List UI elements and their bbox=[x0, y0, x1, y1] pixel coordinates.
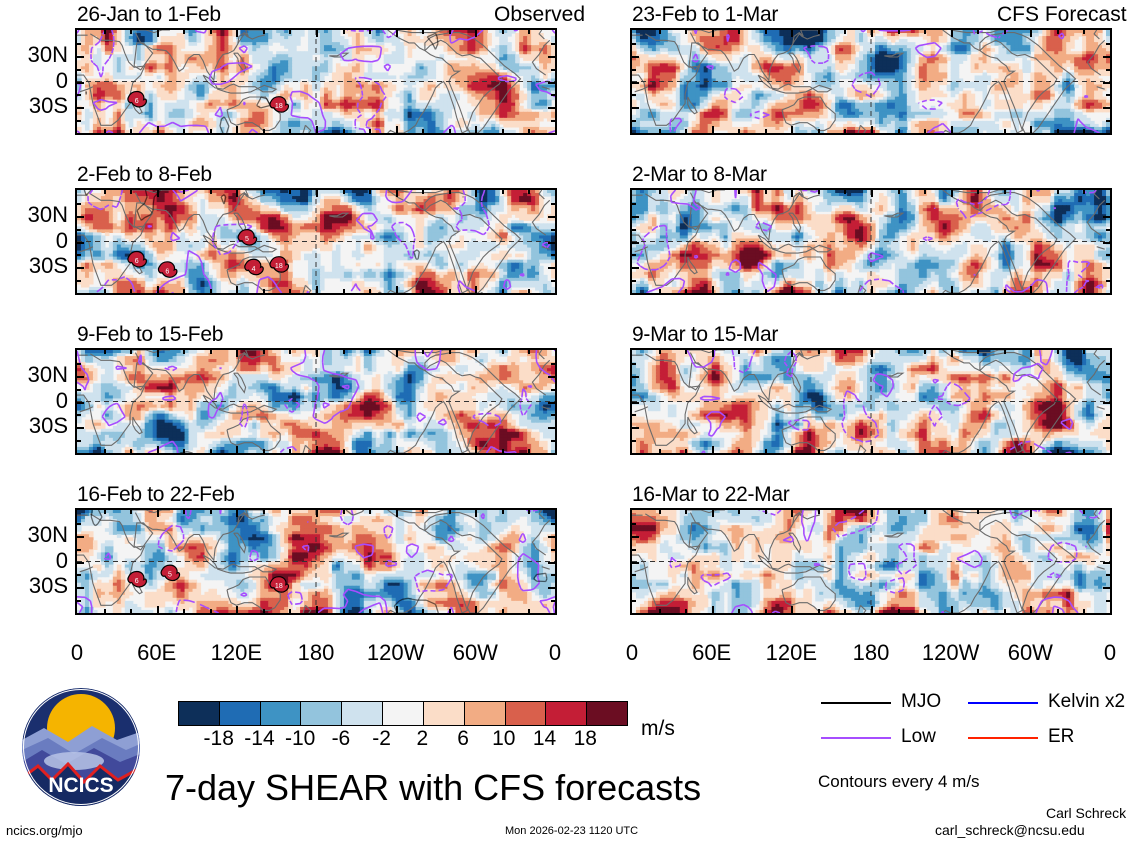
x-tick bbox=[659, 129, 661, 133]
x-tick bbox=[1083, 190, 1085, 194]
footer-email[interactable]: carl_schreck@ncsu.edu bbox=[935, 822, 1085, 838]
x-tick bbox=[528, 350, 530, 354]
panel-title-6: 9-Mar to 15-Mar bbox=[632, 323, 778, 347]
x-tick bbox=[844, 30, 846, 34]
x-tick bbox=[104, 129, 106, 133]
y-tick bbox=[77, 363, 81, 365]
y-tick bbox=[548, 107, 555, 109]
x-tick bbox=[289, 129, 291, 133]
footer-author: Carl Schreck bbox=[1046, 805, 1126, 821]
map-panel-observed-2 bbox=[75, 348, 557, 455]
x-tick bbox=[343, 350, 345, 354]
x-tick bbox=[844, 289, 846, 293]
x-tick bbox=[951, 350, 953, 357]
x-tick bbox=[369, 289, 371, 293]
x-tick bbox=[157, 510, 159, 517]
x-tick bbox=[1004, 129, 1006, 133]
y-axis-label-30N: 30N bbox=[0, 202, 68, 228]
map-panel-forecast-5 bbox=[630, 188, 1112, 295]
legend-swatch-low bbox=[821, 737, 891, 739]
y-tick bbox=[551, 600, 555, 602]
y-tick bbox=[548, 267, 555, 269]
y-tick bbox=[548, 216, 555, 218]
x-tick bbox=[475, 126, 477, 133]
x-tick bbox=[502, 129, 504, 133]
panel-title-1: 2-Feb to 8-Feb bbox=[77, 163, 212, 187]
y-tick bbox=[1106, 69, 1110, 71]
x-tick bbox=[712, 190, 714, 197]
x-tick bbox=[183, 510, 185, 514]
x-tick bbox=[316, 446, 318, 453]
x-tick bbox=[528, 609, 530, 613]
x-tick bbox=[898, 30, 900, 34]
x-tick bbox=[449, 609, 451, 613]
x-tick bbox=[157, 606, 159, 613]
x-tick bbox=[818, 350, 820, 354]
y-tick bbox=[77, 82, 84, 84]
x-tick bbox=[924, 510, 926, 514]
x-tick bbox=[685, 30, 687, 34]
y-tick bbox=[77, 440, 81, 442]
y-tick bbox=[1103, 562, 1110, 564]
x-axis-label-col0-1: 60E bbox=[117, 640, 197, 666]
x-tick bbox=[502, 609, 504, 613]
y-tick bbox=[77, 267, 84, 269]
y-tick bbox=[632, 402, 639, 404]
x-tick bbox=[871, 606, 873, 613]
y-tick bbox=[551, 574, 555, 576]
x-tick bbox=[977, 449, 979, 453]
x-tick bbox=[449, 30, 451, 34]
column-header-observed: Observed bbox=[494, 3, 585, 27]
x-tick bbox=[951, 286, 953, 293]
x-tick bbox=[183, 350, 185, 354]
x-tick bbox=[791, 190, 793, 197]
x-tick bbox=[528, 510, 530, 514]
x-tick bbox=[528, 289, 530, 293]
y-axis-label-0: 0 bbox=[0, 388, 68, 414]
y-tick bbox=[77, 549, 81, 551]
x-tick bbox=[1004, 350, 1006, 354]
x-tick bbox=[130, 289, 132, 293]
y-tick bbox=[632, 107, 639, 109]
legend-swatch-er bbox=[968, 737, 1038, 739]
x-tick bbox=[712, 30, 714, 37]
x-tick bbox=[422, 129, 424, 133]
x-tick bbox=[818, 129, 820, 133]
x-tick bbox=[685, 449, 687, 453]
x-tick bbox=[951, 606, 953, 613]
x-tick bbox=[712, 350, 714, 357]
y-tick bbox=[632, 574, 636, 576]
x-tick bbox=[316, 30, 318, 37]
x-tick bbox=[765, 609, 767, 613]
x-tick bbox=[210, 30, 212, 34]
y-tick bbox=[1106, 203, 1110, 205]
x-tick bbox=[475, 510, 477, 517]
legend-label-mjo: MJO bbox=[901, 691, 941, 713]
colorbar-tick-18: 18 bbox=[560, 727, 610, 751]
y-tick bbox=[1106, 363, 1110, 365]
x-tick bbox=[157, 446, 159, 453]
x-tick bbox=[396, 606, 398, 613]
x-tick bbox=[236, 606, 238, 613]
x-tick bbox=[791, 606, 793, 613]
y-tick bbox=[632, 56, 639, 58]
x-tick bbox=[157, 190, 159, 197]
x-tick bbox=[1004, 30, 1006, 34]
y-tick bbox=[77, 242, 84, 244]
y-tick bbox=[548, 562, 555, 564]
y-tick bbox=[1103, 427, 1110, 429]
x-tick bbox=[844, 609, 846, 613]
y-axis-label-0: 0 bbox=[0, 548, 68, 574]
x-tick bbox=[738, 510, 740, 514]
x-tick bbox=[104, 350, 106, 354]
y-tick bbox=[551, 254, 555, 256]
y-tick bbox=[77, 600, 81, 602]
y-tick bbox=[1103, 536, 1110, 538]
x-tick bbox=[844, 350, 846, 354]
y-tick bbox=[632, 376, 639, 378]
y-tick bbox=[1106, 229, 1110, 231]
x-tick bbox=[449, 129, 451, 133]
x-tick bbox=[263, 129, 265, 133]
x-tick bbox=[765, 449, 767, 453]
y-tick bbox=[1106, 440, 1110, 442]
y-tick bbox=[1103, 82, 1110, 84]
x-tick bbox=[289, 510, 291, 514]
x-tick bbox=[1030, 350, 1032, 357]
x-tick bbox=[396, 446, 398, 453]
x-tick bbox=[449, 510, 451, 514]
x-tick bbox=[449, 350, 451, 354]
x-tick bbox=[791, 30, 793, 37]
x-tick bbox=[818, 30, 820, 34]
x-tick bbox=[712, 510, 714, 517]
footer-site-link[interactable]: ncics.org/mjo bbox=[6, 823, 83, 838]
x-tick bbox=[236, 30, 238, 37]
x-tick bbox=[898, 449, 900, 453]
x-tick bbox=[685, 129, 687, 133]
y-tick bbox=[548, 587, 555, 589]
x-tick bbox=[712, 606, 714, 613]
y-tick bbox=[632, 280, 636, 282]
x-tick bbox=[1083, 289, 1085, 293]
y-tick bbox=[1106, 43, 1110, 45]
x-tick bbox=[1057, 609, 1059, 613]
map-panel-forecast-6 bbox=[630, 348, 1112, 455]
x-tick bbox=[528, 30, 530, 34]
y-tick bbox=[1106, 600, 1110, 602]
x-tick bbox=[528, 190, 530, 194]
ncics-logo-text: NCICS bbox=[48, 774, 113, 797]
x-tick bbox=[1030, 286, 1032, 293]
x-tick bbox=[422, 609, 424, 613]
x-tick bbox=[183, 30, 185, 34]
x-axis-label-col1-6: 0 bbox=[1070, 640, 1135, 666]
panel-title-0: 26-Jan to 1-Feb bbox=[77, 3, 221, 27]
x-tick bbox=[818, 289, 820, 293]
y-tick bbox=[77, 376, 84, 378]
x-tick bbox=[343, 289, 345, 293]
x-tick bbox=[183, 449, 185, 453]
x-tick bbox=[1057, 30, 1059, 34]
x-tick bbox=[104, 190, 106, 194]
x-tick bbox=[844, 510, 846, 514]
x-tick bbox=[898, 609, 900, 613]
colorbar-segment-4 bbox=[342, 702, 383, 725]
x-tick bbox=[210, 510, 212, 514]
x-tick bbox=[343, 129, 345, 133]
y-tick bbox=[77, 402, 84, 404]
y-tick bbox=[632, 523, 636, 525]
x-tick bbox=[236, 126, 238, 133]
x-tick bbox=[1057, 350, 1059, 354]
x-tick bbox=[263, 609, 265, 613]
x-tick bbox=[871, 446, 873, 453]
x-tick bbox=[738, 129, 740, 133]
x-tick bbox=[104, 449, 106, 453]
x-tick bbox=[1083, 609, 1085, 613]
y-tick bbox=[77, 120, 81, 122]
x-tick bbox=[502, 350, 504, 354]
x-tick bbox=[1083, 350, 1085, 354]
x-tick bbox=[183, 129, 185, 133]
x-tick bbox=[924, 289, 926, 293]
x-tick bbox=[343, 510, 345, 514]
colorbar-segment-7 bbox=[465, 702, 506, 725]
x-tick bbox=[1057, 510, 1059, 514]
x-tick bbox=[236, 286, 238, 293]
x-axis-label-col0-2: 120E bbox=[196, 640, 276, 666]
x-tick bbox=[528, 129, 530, 133]
x-tick bbox=[659, 289, 661, 293]
x-axis-label-col0-0: 0 bbox=[37, 640, 117, 666]
x-tick bbox=[236, 510, 238, 517]
x-tick bbox=[130, 609, 132, 613]
x-tick bbox=[659, 510, 661, 514]
x-tick bbox=[924, 129, 926, 133]
x-tick bbox=[396, 30, 398, 37]
y-tick bbox=[551, 69, 555, 71]
y-tick bbox=[77, 389, 81, 391]
footer-timestamp: Mon 2026-02-23 1120 UTC bbox=[505, 825, 638, 837]
x-tick bbox=[765, 129, 767, 133]
y-tick bbox=[632, 120, 636, 122]
x-tick bbox=[502, 510, 504, 514]
x-tick bbox=[475, 350, 477, 357]
y-tick bbox=[551, 94, 555, 96]
x-tick bbox=[871, 510, 873, 517]
x-tick bbox=[502, 190, 504, 194]
x-tick bbox=[104, 609, 106, 613]
colorbar-segment-0 bbox=[179, 702, 220, 725]
map-field bbox=[77, 350, 555, 453]
map-field: 6 18 5 bbox=[77, 510, 555, 613]
y-tick bbox=[632, 363, 636, 365]
x-tick bbox=[1030, 510, 1032, 517]
legend-swatch-kelvin bbox=[968, 702, 1038, 704]
y-tick bbox=[551, 523, 555, 525]
x-tick bbox=[871, 350, 873, 357]
x-tick bbox=[659, 30, 661, 34]
x-axis-label-col1-3: 180 bbox=[831, 640, 911, 666]
x-tick bbox=[157, 30, 159, 37]
x-tick bbox=[924, 609, 926, 613]
colorbar-segment-1 bbox=[220, 702, 261, 725]
y-tick bbox=[1106, 574, 1110, 576]
x-tick bbox=[369, 129, 371, 133]
x-axis-label-col0-6: 0 bbox=[515, 640, 595, 666]
x-tick bbox=[951, 30, 953, 37]
map-field: 6 18 bbox=[77, 30, 555, 133]
x-tick bbox=[130, 449, 132, 453]
x-tick bbox=[1004, 289, 1006, 293]
y-tick bbox=[632, 536, 639, 538]
panel-title-3: 16-Feb to 22-Feb bbox=[77, 483, 234, 507]
y-tick bbox=[1103, 376, 1110, 378]
y-tick bbox=[548, 402, 555, 404]
x-tick bbox=[898, 510, 900, 514]
legend-label-kelvin: Kelvin x2 bbox=[1048, 691, 1125, 713]
y-tick bbox=[1106, 389, 1110, 391]
x-tick bbox=[183, 609, 185, 613]
map-panel-observed-3: 6 18 5 bbox=[75, 508, 557, 615]
y-tick bbox=[632, 414, 636, 416]
x-tick bbox=[818, 510, 820, 514]
x-tick bbox=[871, 30, 873, 37]
x-tick bbox=[502, 30, 504, 34]
x-tick bbox=[263, 190, 265, 194]
x-tick bbox=[236, 190, 238, 197]
y-tick bbox=[632, 549, 636, 551]
x-tick bbox=[263, 30, 265, 34]
x-tick bbox=[449, 449, 451, 453]
x-tick bbox=[712, 126, 714, 133]
x-tick bbox=[502, 289, 504, 293]
y-tick bbox=[1106, 549, 1110, 551]
x-tick bbox=[1057, 289, 1059, 293]
x-tick bbox=[977, 609, 979, 613]
x-tick bbox=[977, 190, 979, 194]
x-tick bbox=[130, 350, 132, 354]
x-tick bbox=[343, 190, 345, 194]
y-tick bbox=[1103, 402, 1110, 404]
y-tick bbox=[632, 82, 639, 84]
x-tick bbox=[369, 350, 371, 354]
y-tick bbox=[1103, 267, 1110, 269]
contour-interval-note: Contours every 4 m/s bbox=[818, 772, 980, 792]
x-tick bbox=[924, 30, 926, 34]
x-tick bbox=[316, 606, 318, 613]
x-tick bbox=[738, 350, 740, 354]
map-field bbox=[632, 190, 1110, 293]
y-axis-label-30S: 30S bbox=[0, 573, 68, 599]
x-tick bbox=[951, 126, 953, 133]
x-tick bbox=[263, 289, 265, 293]
map-field bbox=[632, 30, 1110, 133]
x-tick bbox=[791, 446, 793, 453]
x-tick bbox=[289, 289, 291, 293]
x-tick bbox=[422, 289, 424, 293]
legend-swatch-mjo bbox=[821, 702, 891, 704]
y-tick bbox=[77, 280, 81, 282]
x-tick bbox=[738, 30, 740, 34]
y-tick bbox=[551, 43, 555, 45]
x-tick bbox=[844, 190, 846, 194]
x-tick bbox=[1057, 190, 1059, 194]
y-tick bbox=[551, 363, 555, 365]
x-tick bbox=[289, 190, 291, 194]
y-tick bbox=[1106, 523, 1110, 525]
y-axis-label-30S: 30S bbox=[0, 253, 68, 279]
y-tick bbox=[551, 120, 555, 122]
y-tick bbox=[548, 427, 555, 429]
x-tick bbox=[475, 30, 477, 37]
y-tick bbox=[632, 254, 636, 256]
x-tick bbox=[659, 449, 661, 453]
x-tick bbox=[898, 350, 900, 354]
y-tick bbox=[632, 267, 639, 269]
x-tick bbox=[369, 449, 371, 453]
y-tick bbox=[77, 562, 84, 564]
map-panel-observed-1: 6 18 5 6 4 bbox=[75, 188, 557, 295]
x-tick bbox=[924, 190, 926, 194]
y-tick bbox=[77, 69, 81, 71]
x-tick bbox=[765, 350, 767, 354]
map-panel-forecast-4 bbox=[630, 28, 1112, 135]
y-tick bbox=[77, 229, 81, 231]
y-tick bbox=[1106, 414, 1110, 416]
x-tick bbox=[210, 350, 212, 354]
x-tick bbox=[422, 350, 424, 354]
x-tick bbox=[343, 449, 345, 453]
y-tick bbox=[77, 56, 84, 58]
column-header-forecast: CFS Forecast bbox=[997, 3, 1127, 27]
x-tick bbox=[924, 449, 926, 453]
x-tick bbox=[316, 126, 318, 133]
y-tick bbox=[632, 562, 639, 564]
x-tick bbox=[1030, 30, 1032, 37]
x-tick bbox=[977, 289, 979, 293]
x-tick bbox=[210, 129, 212, 133]
colorbar-segment-6 bbox=[424, 702, 465, 725]
x-tick bbox=[369, 30, 371, 34]
y-tick bbox=[548, 536, 555, 538]
x-tick bbox=[924, 350, 926, 354]
x-tick bbox=[289, 449, 291, 453]
y-tick bbox=[548, 242, 555, 244]
y-tick bbox=[632, 440, 636, 442]
y-tick bbox=[632, 94, 636, 96]
x-tick bbox=[871, 286, 873, 293]
x-tick bbox=[183, 289, 185, 293]
y-tick bbox=[77, 107, 84, 109]
x-axis-label-col1-0: 0 bbox=[592, 640, 672, 666]
x-tick bbox=[369, 609, 371, 613]
x-tick bbox=[898, 289, 900, 293]
y-tick bbox=[632, 600, 636, 602]
x-tick bbox=[1030, 446, 1032, 453]
x-tick bbox=[130, 129, 132, 133]
x-tick bbox=[765, 30, 767, 34]
map-panel-observed-0: 6 18 bbox=[75, 28, 557, 135]
y-tick bbox=[77, 427, 84, 429]
y-tick bbox=[77, 43, 81, 45]
x-tick bbox=[738, 289, 740, 293]
x-axis-label-col1-5: 60W bbox=[990, 640, 1070, 666]
